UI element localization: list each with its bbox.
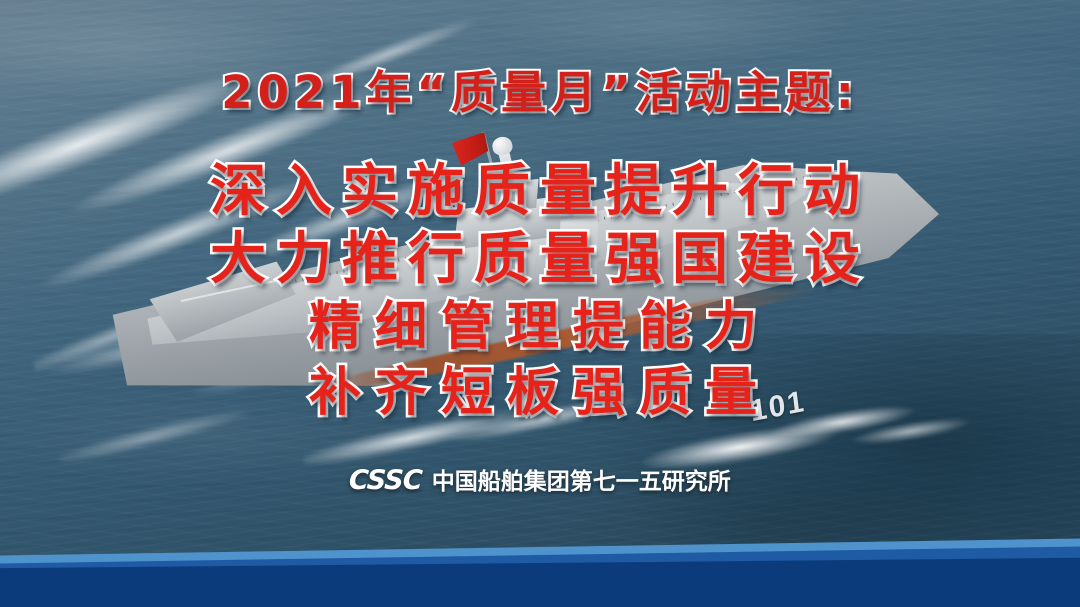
- slogan-line-4: 补齐短板强质量: [0, 360, 1080, 426]
- cssc-logo: CSSC: [348, 465, 422, 496]
- slogan-line-1: 深入实施质量提升行动: [0, 158, 1080, 226]
- slogan-block: 深入实施质量提升行动 大力推行质量强国建设 精细管理提能力 补齐短板强质量: [0, 158, 1080, 426]
- poster-text-layer: 2021年“质量月”活动主题: 深入实施质量提升行动 大力推行质量强国建设 精细…: [0, 0, 1080, 607]
- footer-credit: CSSC中国船舶集团第七一五研究所: [0, 462, 1080, 496]
- poster-canvas: 101 2021年“质量月”活动主题: 深入实施质量提升行动 大力推行质量强国建…: [0, 0, 1080, 607]
- bottom-band-group: [0, 517, 1080, 607]
- organization-name: 中国船舶集团第七一五研究所: [432, 462, 731, 496]
- poster-headline: 2021年“质量月”活动主题:: [0, 56, 1080, 121]
- slogan-line-2: 大力推行质量强国建设: [0, 226, 1080, 294]
- slogan-line-3: 精细管理提能力: [0, 294, 1080, 360]
